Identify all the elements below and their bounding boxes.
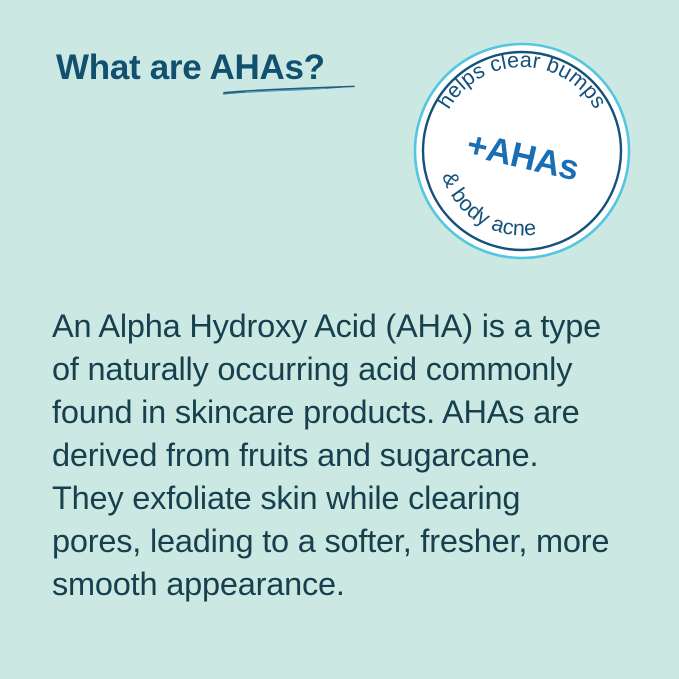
aha-claim-badge: helps clear bumps & body acne +AHAs <box>411 40 633 262</box>
page-title: What are AHAs? <box>56 48 325 88</box>
heading-block: What are AHAs? <box>56 48 386 108</box>
body-paragraph: An Alpha Hydroxy Acid (AHA) is a type of… <box>52 305 612 606</box>
product-info-card: What are AHAs? helps clear bumps <box>0 0 679 679</box>
